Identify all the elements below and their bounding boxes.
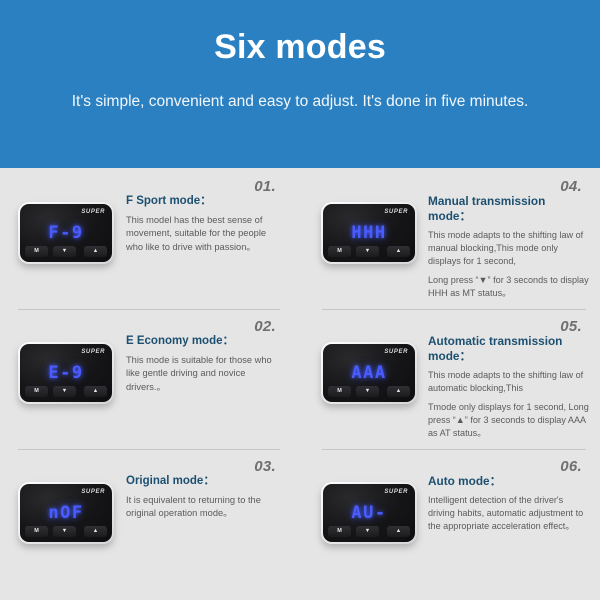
device-brand-label: SUPER xyxy=(384,209,408,215)
device-led-display: AAA xyxy=(323,364,415,382)
mode-number: 04. xyxy=(560,178,582,195)
mode-row: 01. SUPER F-9 M ▼ ▲ xyxy=(10,170,286,310)
device-mode-button[interactable]: M xyxy=(328,246,351,257)
device-image: SUPER E-9 M ▼ ▲ xyxy=(10,334,122,404)
mode-text: Original mode： It is equivalent to retur… xyxy=(122,474,286,521)
mode-row: 05. SUPER AAA M ▼ ▲ xyxy=(314,310,592,450)
page-title: Six modes xyxy=(60,26,540,68)
mode-title: Original mode： xyxy=(126,474,284,489)
mode-description: Intelligent detection of the driver's dr… xyxy=(428,494,590,533)
throttle-controller-device: SUPER nOF M ▼ ▲ xyxy=(18,482,114,544)
device-face: SUPER E-9 M ▼ ▲ xyxy=(20,344,112,402)
mode-text: Auto mode： Intelligent detection of the … xyxy=(424,474,592,533)
device-image: SUPER AU- M ▼ ▲ xyxy=(314,474,424,544)
device-led-display: F-9 xyxy=(20,224,112,242)
device-image: SUPER nOF M ▼ ▲ xyxy=(10,474,122,544)
modes-grid: 01. SUPER F-9 M ▼ ▲ xyxy=(0,168,600,600)
mode-title: F Sport mode： xyxy=(126,194,284,209)
mode-number: 03. xyxy=(254,458,276,475)
device-button-row: M ▼ ▲ xyxy=(328,386,410,398)
device-up-button[interactable]: ▲ xyxy=(84,246,107,257)
device-brand-label: SUPER xyxy=(81,349,105,355)
device-image: SUPER HHH M ▼ ▲ xyxy=(314,194,424,264)
device-button-row: M ▼ ▲ xyxy=(25,526,107,538)
throttle-controller-device: SUPER AAA M ▼ ▲ xyxy=(321,342,417,404)
page-subtitle: It's simple, convenient and easy to adju… xyxy=(60,90,540,113)
mode-description: This mode adapts to the shifting law of … xyxy=(428,229,590,268)
device-mode-button[interactable]: M xyxy=(25,386,48,397)
device-down-button[interactable]: ▼ xyxy=(356,246,379,257)
mode-number: 06. xyxy=(560,458,582,475)
device-button-row: M ▼ ▲ xyxy=(328,246,410,258)
device-brand-label: SUPER xyxy=(384,489,408,495)
device-brand-label: SUPER xyxy=(81,489,105,495)
mode-row: 03. SUPER nOF M ▼ ▲ xyxy=(10,450,286,590)
throttle-controller-device: SUPER AU- M ▼ ▲ xyxy=(321,482,417,544)
modes-column-right: 04. SUPER HHH M ▼ ▲ xyxy=(300,170,600,600)
device-face: SUPER HHH M ▼ ▲ xyxy=(323,204,415,262)
device-down-button[interactable]: ▼ xyxy=(53,386,76,397)
mode-description: This mode adapts to the shifting law of … xyxy=(428,369,590,395)
device-down-button[interactable]: ▼ xyxy=(53,526,76,537)
device-image: SUPER F-9 M ▼ ▲ xyxy=(10,194,122,264)
mode-text: Manual transmission mode： This mode adap… xyxy=(424,194,592,300)
throttle-controller-device: SUPER HHH M ▼ ▲ xyxy=(321,202,417,264)
device-led-display: HHH xyxy=(323,224,415,242)
device-face: SUPER AU- M ▼ ▲ xyxy=(323,484,415,542)
mode-description: Long press “▼” for 3 seconds to display … xyxy=(428,274,590,300)
mode-number: 01. xyxy=(254,178,276,195)
device-button-row: M ▼ ▲ xyxy=(25,386,107,398)
device-down-button[interactable]: ▼ xyxy=(356,386,379,397)
device-led-display: AU- xyxy=(323,504,415,522)
device-down-button[interactable]: ▼ xyxy=(53,246,76,257)
device-brand-label: SUPER xyxy=(384,349,408,355)
device-face: SUPER F-9 M ▼ ▲ xyxy=(20,204,112,262)
device-mode-button[interactable]: M xyxy=(328,386,351,397)
throttle-controller-device: SUPER F-9 M ▼ ▲ xyxy=(18,202,114,264)
device-mode-button[interactable]: M xyxy=(25,526,48,537)
device-up-button[interactable]: ▲ xyxy=(84,386,107,397)
modes-column-left: 01. SUPER F-9 M ▼ ▲ xyxy=(0,170,300,600)
mode-row: 06. SUPER AU- M ▼ ▲ xyxy=(314,450,592,590)
mode-title: E Economy mode： xyxy=(126,334,284,349)
device-up-button[interactable]: ▲ xyxy=(387,526,410,537)
device-up-button[interactable]: ▲ xyxy=(387,386,410,397)
device-down-button[interactable]: ▼ xyxy=(356,526,379,537)
device-mode-button[interactable]: M xyxy=(25,246,48,257)
mode-title: Automatic transmission mode： xyxy=(428,334,590,364)
device-face: SUPER AAA M ▼ ▲ xyxy=(323,344,415,402)
mode-text: E Economy mode： This mode is suitable fo… xyxy=(122,334,286,394)
throttle-controller-device: SUPER E-9 M ▼ ▲ xyxy=(18,342,114,404)
mode-title: Manual transmission mode： xyxy=(428,194,590,224)
device-image: SUPER AAA M ▼ ▲ xyxy=(314,334,424,404)
mode-text: Automatic transmission mode： This mode a… xyxy=(424,334,592,440)
mode-title: Auto mode： xyxy=(428,474,590,489)
device-led-display: nOF xyxy=(20,504,112,522)
device-up-button[interactable]: ▲ xyxy=(387,246,410,257)
mode-number: 02. xyxy=(254,318,276,335)
mode-description: It is equivalent to returning to the ori… xyxy=(126,494,284,521)
device-button-row: M ▼ ▲ xyxy=(25,246,107,258)
mode-row: 02. SUPER E-9 M ▼ ▲ xyxy=(10,310,286,450)
device-up-button[interactable]: ▲ xyxy=(84,526,107,537)
mode-description: This mode is suitable for those who like… xyxy=(126,354,284,394)
mode-number: 05. xyxy=(560,318,582,335)
mode-text: F Sport mode： This model has the best se… xyxy=(122,194,286,254)
device-brand-label: SUPER xyxy=(81,209,105,215)
mode-description: This model has the best sense of movemen… xyxy=(126,214,284,254)
device-button-row: M ▼ ▲ xyxy=(328,526,410,538)
mode-row: 04. SUPER HHH M ▼ ▲ xyxy=(314,170,592,310)
device-mode-button[interactable]: M xyxy=(328,526,351,537)
device-face: SUPER nOF M ▼ ▲ xyxy=(20,484,112,542)
page-header: Six modes It's simple, convenient and ea… xyxy=(0,0,600,168)
device-led-display: E-9 xyxy=(20,364,112,382)
mode-description: Tmode only displays for 1 second, Long p… xyxy=(428,401,590,440)
